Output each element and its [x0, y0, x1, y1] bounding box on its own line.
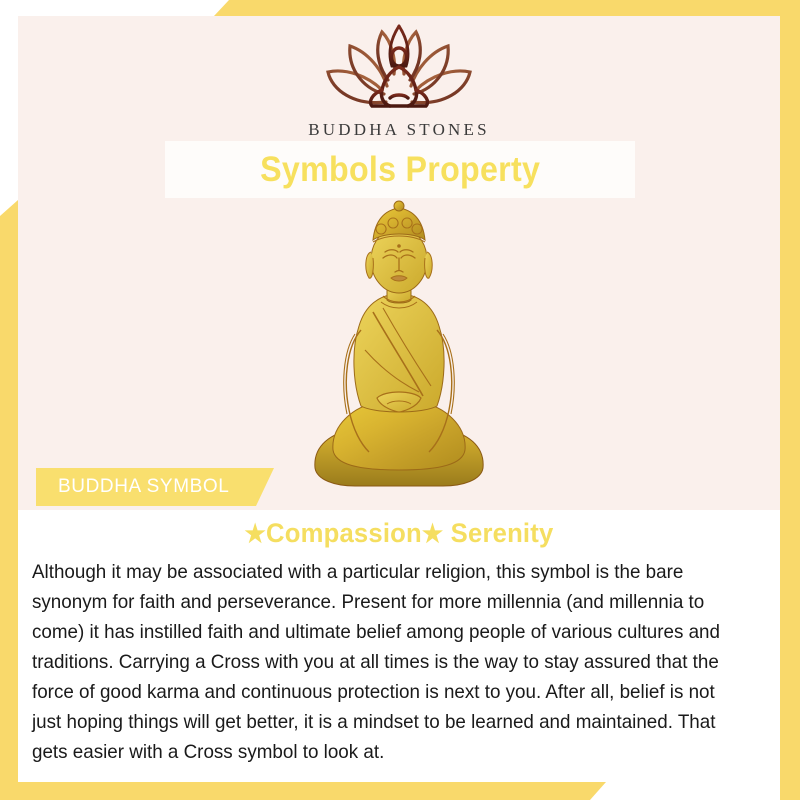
decor-band-top	[214, 0, 800, 16]
brand-wordmark: BUDDHA STONES	[308, 120, 490, 140]
decor-band-bottom	[0, 782, 606, 800]
content-panel: ★Compassion★ Serenity Although it may be…	[18, 510, 780, 782]
section-ribbon: BUDDHA SYMBOL	[36, 468, 274, 506]
title-banner: Symbols Property	[165, 141, 635, 198]
lotus-meditation-icon	[324, 24, 474, 116]
hero-image	[18, 200, 780, 490]
star-icon-left: ★	[245, 520, 266, 548]
seated-buddha-statue	[303, 200, 495, 490]
star-icon-right: ★	[422, 520, 443, 548]
body-paragraph: Although it may be associated with a par…	[32, 557, 744, 767]
decor-band-left	[0, 200, 18, 800]
hero-panel: BUDDHA STONES Symbols Property	[18, 16, 780, 510]
section-subheading: ★Compassion★ Serenity	[37, 518, 761, 549]
infographic-page: BUDDHA STONES Symbols Property	[0, 0, 800, 800]
page-title: Symbols Property	[260, 150, 540, 190]
decor-band-right	[780, 0, 800, 800]
brand-logo: BUDDHA STONES	[18, 24, 780, 140]
subheading-word-compassion: Compassion	[266, 518, 422, 548]
subheading-word-serenity: Serenity	[443, 518, 553, 548]
section-ribbon-label: BUDDHA SYMBOL	[58, 476, 229, 498]
